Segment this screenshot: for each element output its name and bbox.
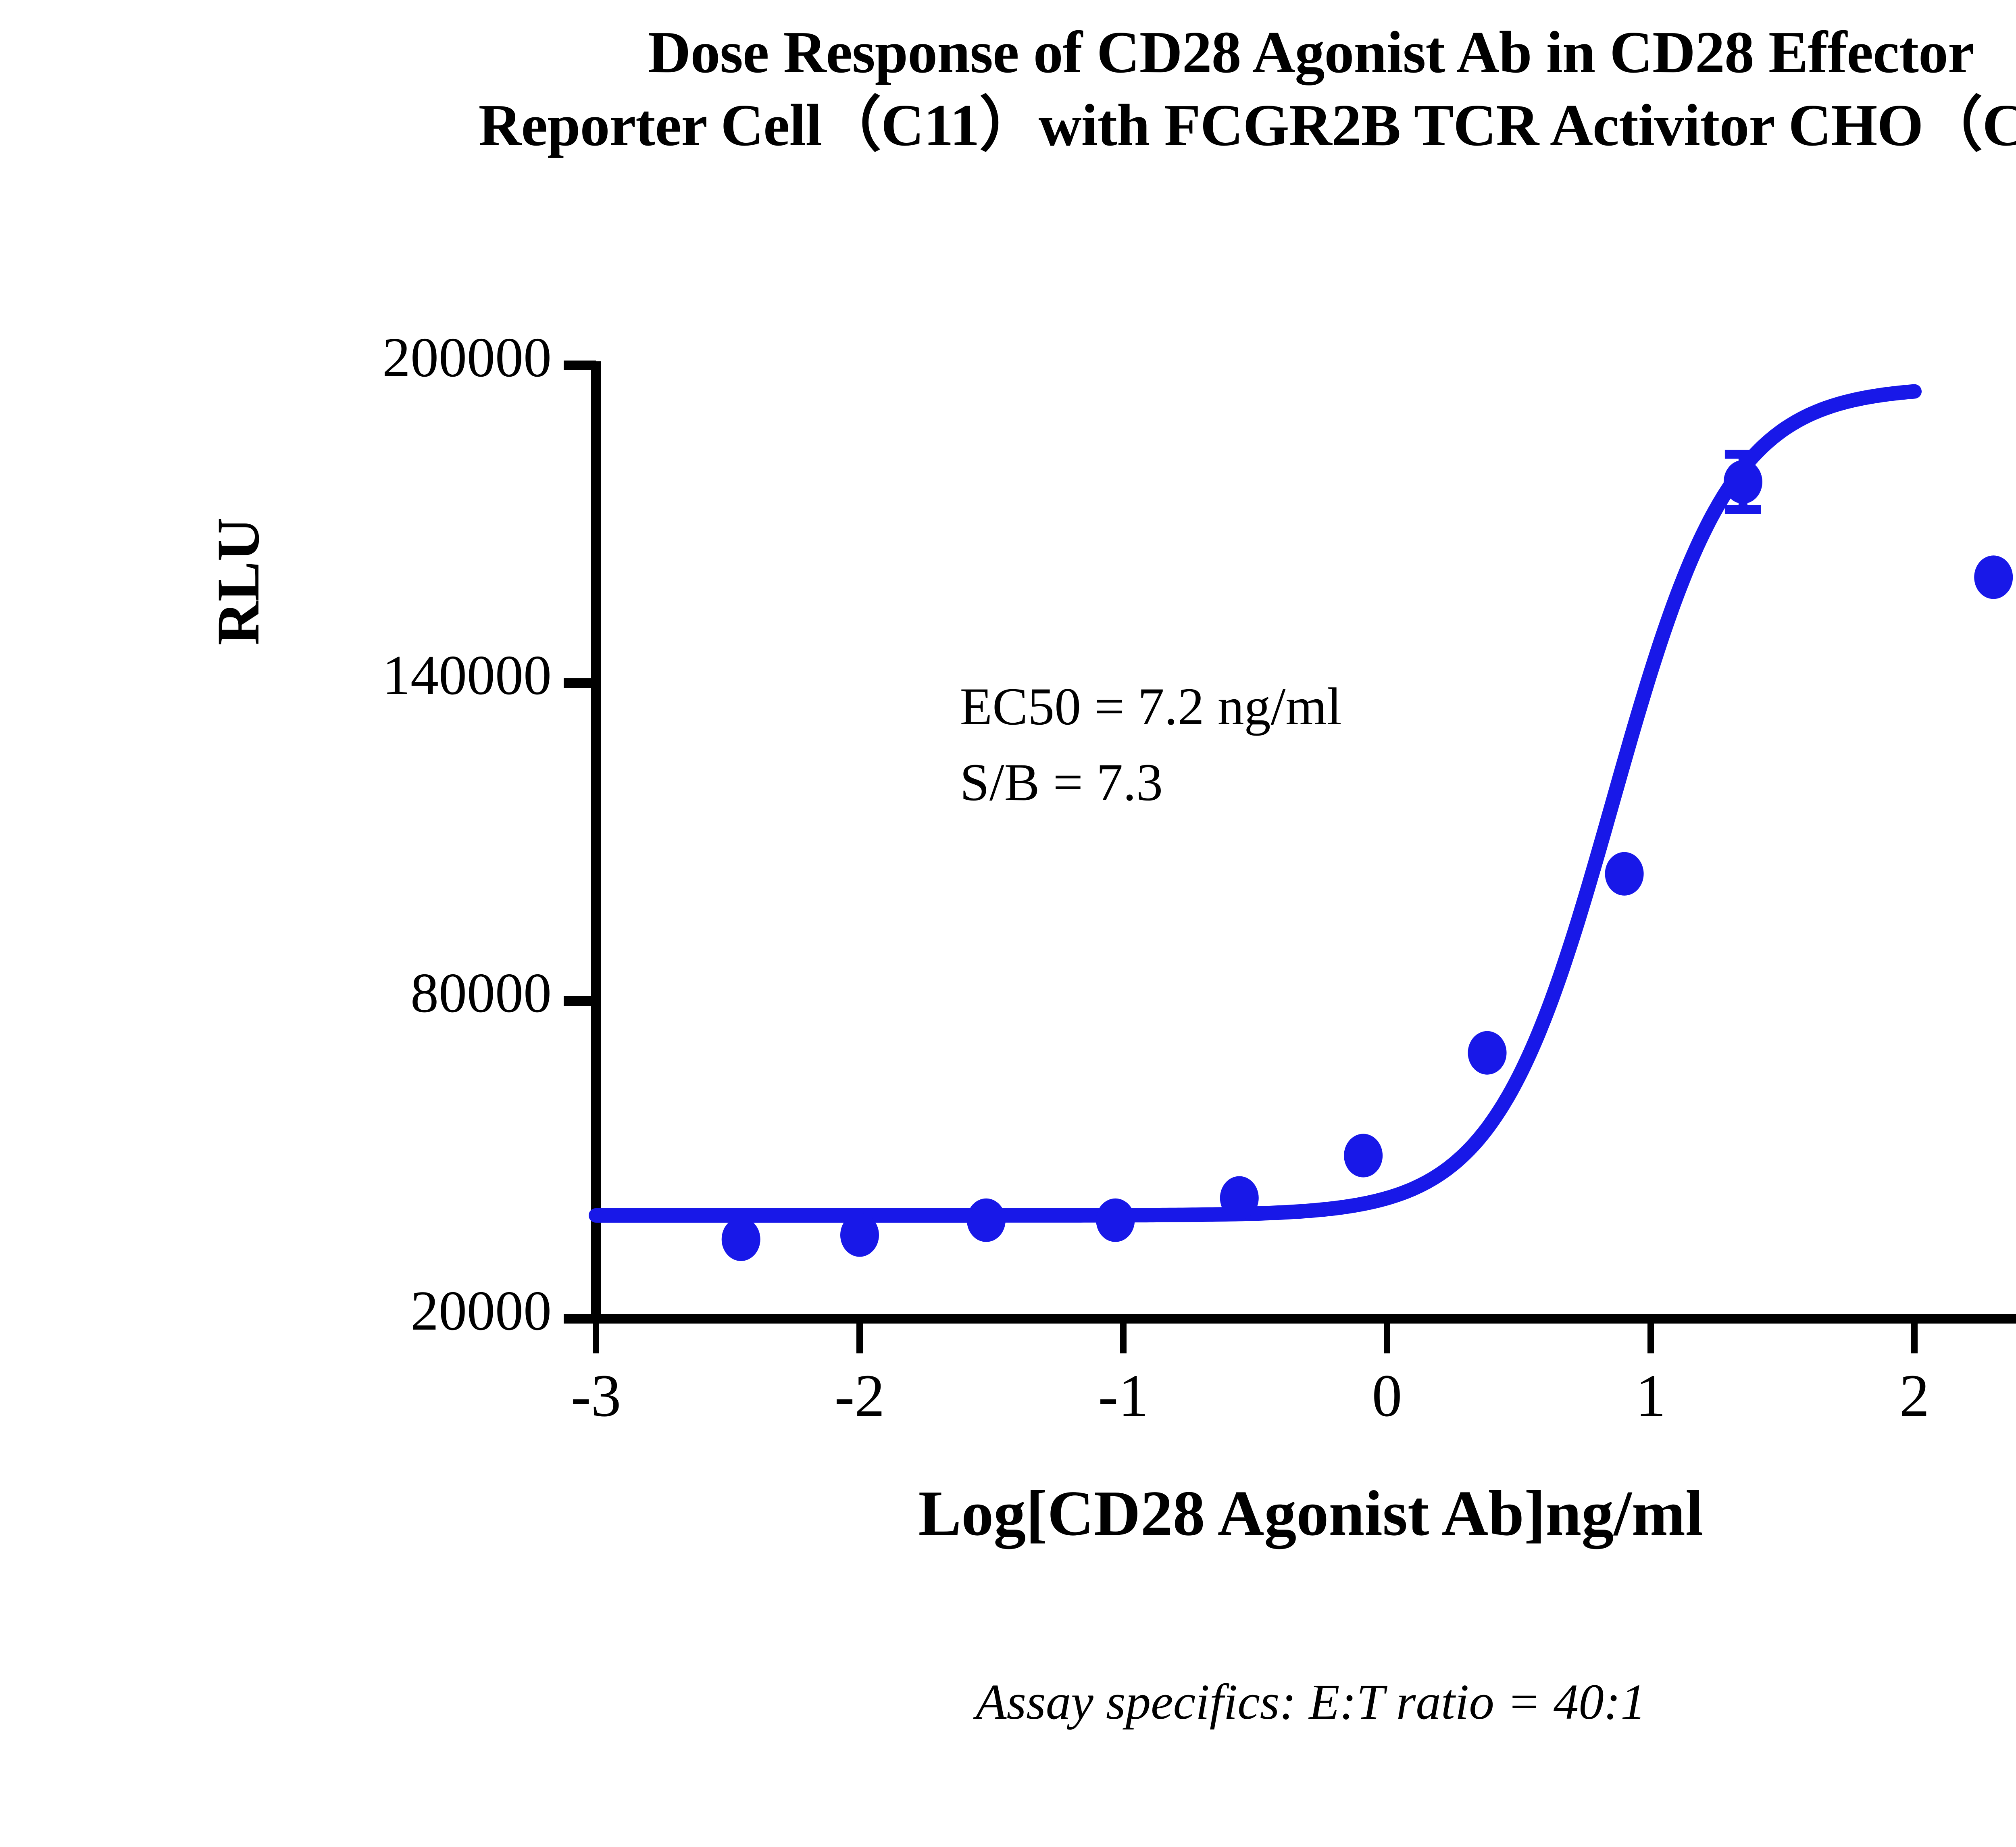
x-axis-title: Log[CD28 Agonist Ab]ng/ml: [0, 1476, 2016, 1551]
data-point: [1096, 1199, 1135, 1242]
data-point: [1344, 1134, 1383, 1177]
chart-canvas: Dose Response of CD28 Agonist Ab in CD28…: [0, 0, 2016, 1847]
data-point: [1724, 460, 1762, 504]
annotation-box: EC50 = 7.2 ng/ml S/B = 7.3: [960, 669, 1342, 820]
plot-area: [0, 0, 2016, 1847]
figure-footer: Assay specifics: E:T ratio = 40:1: [0, 1674, 2016, 1731]
data-point: [967, 1199, 1006, 1242]
data-point: [722, 1217, 760, 1261]
data-points: [722, 460, 2013, 1261]
annotation-sb: S/B = 7.3: [960, 744, 1342, 820]
axis-lines: [564, 361, 2016, 1353]
data-point: [1974, 555, 2013, 599]
annotation-ec50: EC50 = 7.2 ng/ml: [960, 669, 1342, 744]
data-point: [1468, 1031, 1507, 1075]
data-point: [1605, 852, 1644, 896]
data-point: [840, 1213, 879, 1257]
data-point: [1220, 1176, 1259, 1220]
